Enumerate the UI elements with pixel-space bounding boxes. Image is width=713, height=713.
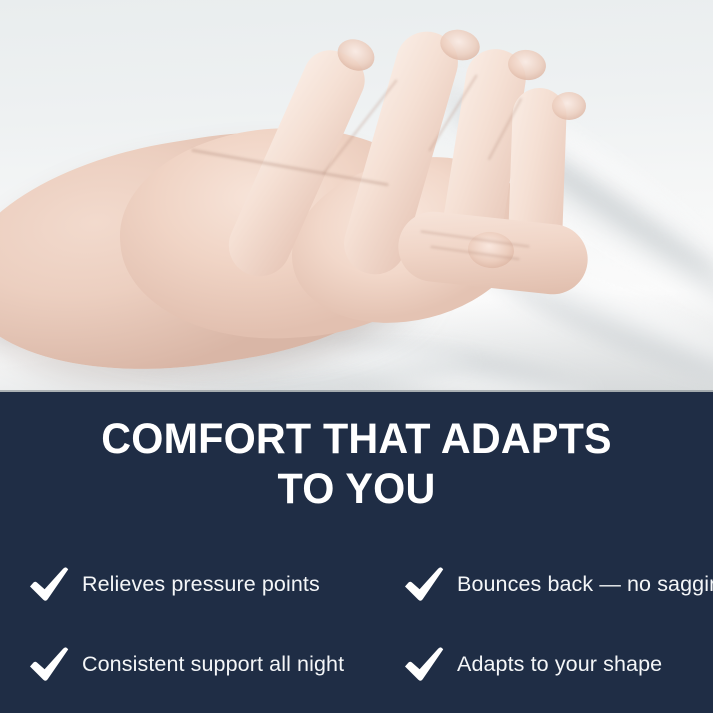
page-title: COMFORT THAT ADAPTS TO YOU — [14, 414, 698, 514]
hero-photo — [0, 0, 713, 392]
feature-label: Consistent support all night — [82, 652, 344, 677]
headline-line-2: TO YOU — [14, 464, 698, 514]
check-icon — [26, 562, 72, 606]
feature-item[interactable]: Relieves pressure points — [0, 544, 378, 624]
product-feature-card: COMFORT THAT ADAPTS TO YOU Relieves pres… — [0, 0, 713, 713]
feature-panel: COMFORT THAT ADAPTS TO YOU Relieves pres… — [0, 392, 713, 713]
hand-illustration — [0, 0, 713, 392]
feature-label: Relieves pressure points — [82, 572, 320, 597]
check-icon — [401, 642, 447, 686]
feature-item[interactable]: Adapts to your shape — [378, 624, 713, 704]
feature-item[interactable]: Bounces back — no sagging — [378, 544, 713, 624]
fingertip — [552, 92, 586, 120]
check-icon — [26, 642, 72, 686]
feature-row: Relieves pressure points Bounces back — … — [0, 544, 713, 624]
check-icon — [401, 562, 447, 606]
feature-row: Consistent support all night Adapts to y… — [0, 624, 713, 704]
feature-item[interactable]: Consistent support all night — [0, 624, 378, 704]
wrist-edge — [0, 150, 70, 310]
feature-label: Bounces back — no sagging — [457, 572, 713, 597]
feature-label: Adapts to your shape — [457, 652, 662, 677]
headline-line-1: COMFORT THAT ADAPTS — [14, 414, 698, 464]
feature-list: Relieves pressure points Bounces back — … — [0, 544, 713, 704]
